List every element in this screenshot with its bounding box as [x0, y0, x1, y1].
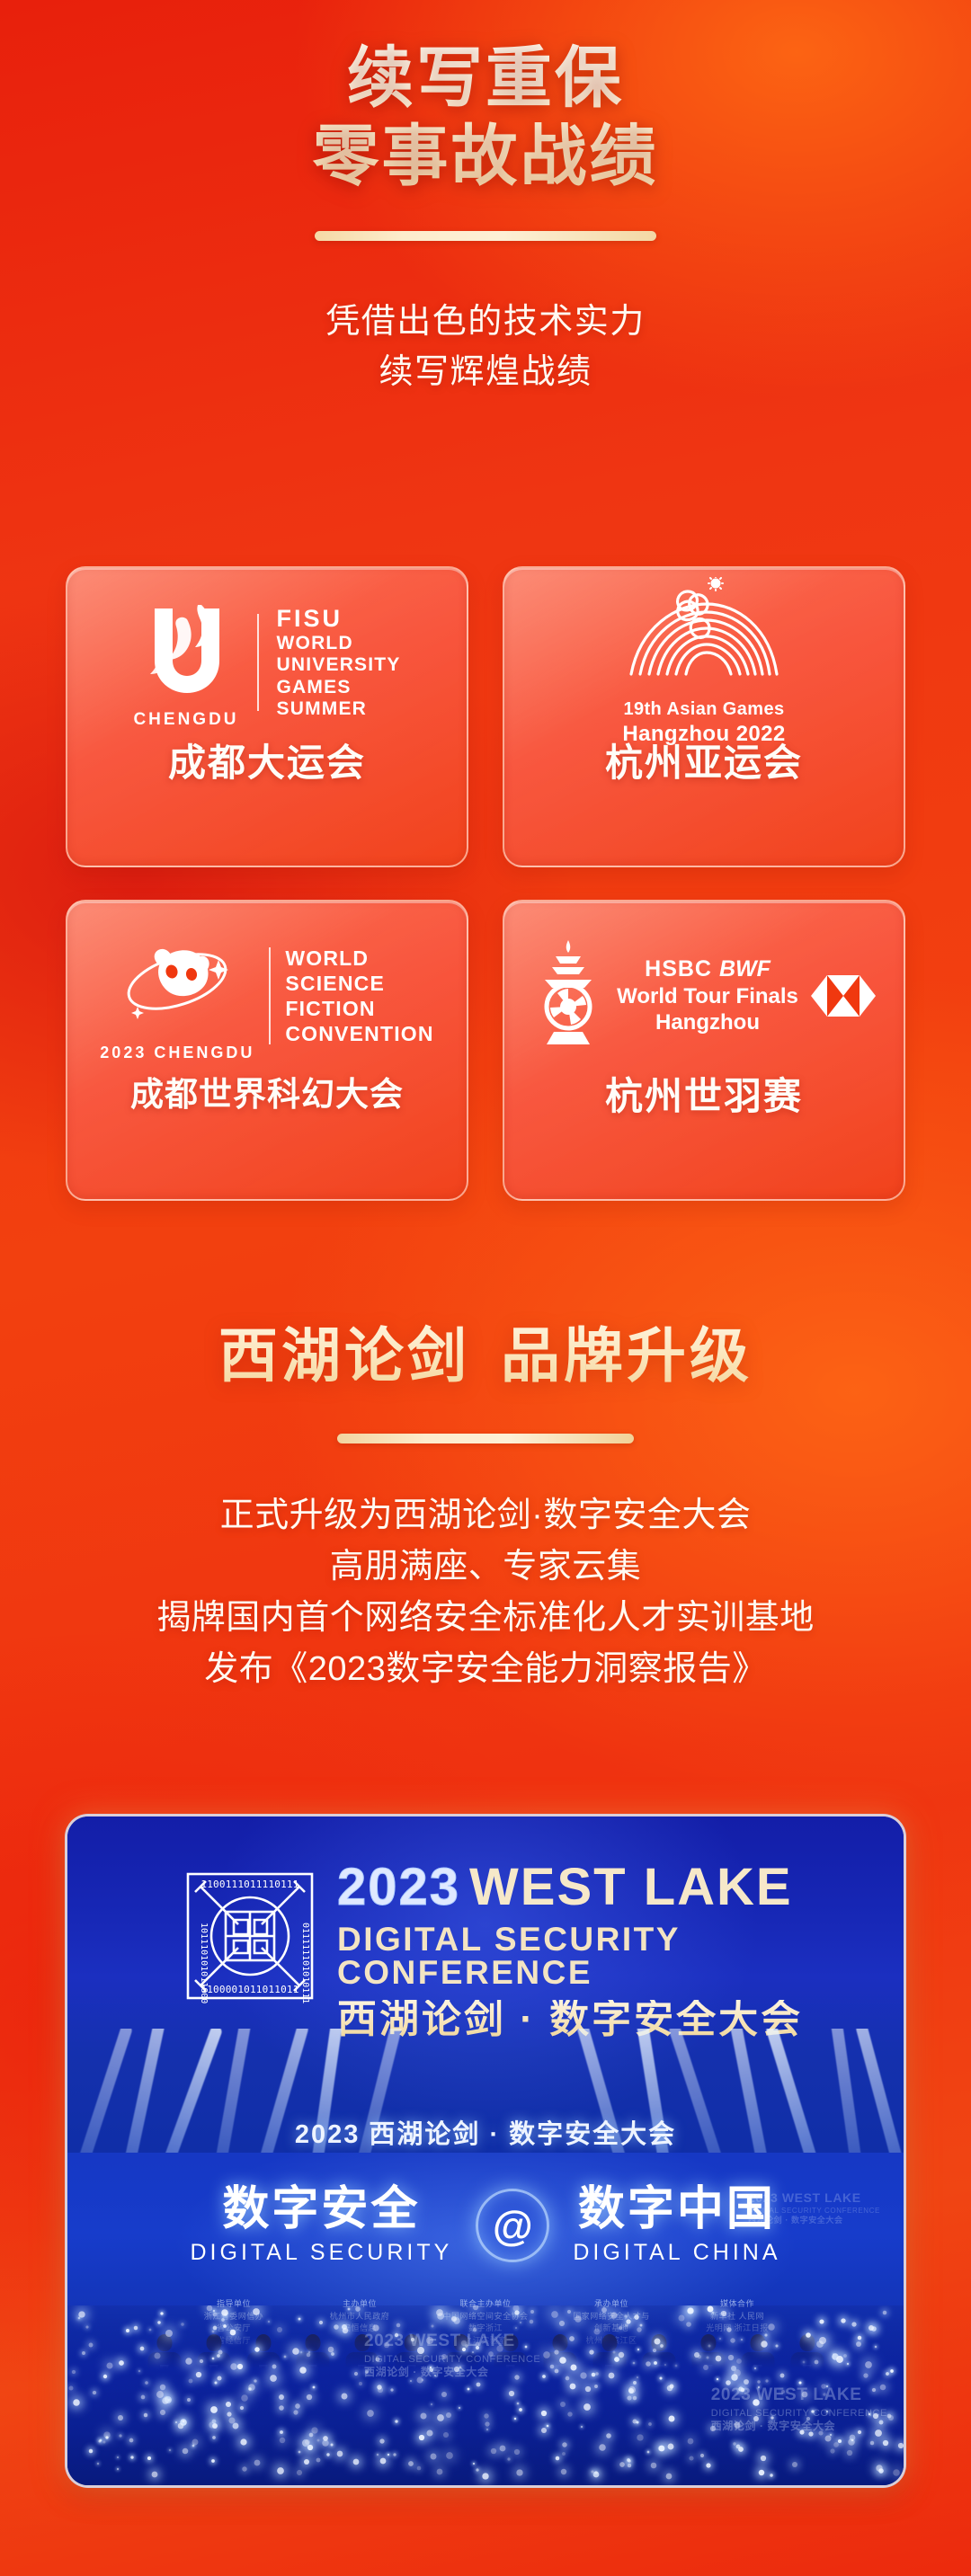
floor-sparkle	[891, 2369, 895, 2373]
universiade-flame-u-icon	[137, 596, 236, 702]
floor-sparkle	[628, 2459, 631, 2463]
fisu-line-university: UNIVERSITY	[277, 654, 401, 675]
hero-subtitle: 凭借出色的技术实力 续写辉煌战绩	[0, 297, 971, 397]
hero-divider	[315, 231, 656, 241]
floor-sparkle	[741, 2388, 744, 2392]
section2-body-line2: 高朋满座、专家云集	[0, 1541, 971, 1593]
floor-sparkle	[646, 2361, 651, 2367]
floor-sparkle	[284, 2355, 287, 2358]
floor-sparkle	[769, 2323, 776, 2331]
floor-sparkle	[627, 2396, 631, 2401]
floor-sparkle	[833, 2442, 839, 2447]
floor-sparkle	[620, 2462, 626, 2467]
floor-sparkle	[477, 2382, 481, 2386]
floor-sparkle	[551, 2311, 558, 2318]
floor-sparkle	[316, 2438, 319, 2441]
floor-sparkle	[141, 2394, 146, 2399]
floor-sparkle	[158, 2322, 161, 2324]
floor-sparkle	[873, 2413, 878, 2419]
floor-sparkle	[233, 2423, 239, 2429]
hsbc-text: HSBC	[645, 956, 712, 982]
floor-sparkle	[293, 2348, 300, 2355]
floor-sparkle	[207, 2305, 213, 2312]
floor-sparkle	[808, 2431, 813, 2436]
worldcon-line-fiction: FICTION	[285, 997, 375, 1020]
floor-sparkle	[830, 2448, 834, 2453]
stage-slogan: 数字安全 DIGITAL SECURITY @ 数字中国 DIGITAL CHI…	[67, 2185, 904, 2266]
floor-sparkle	[491, 2448, 496, 2454]
floor-sparkle	[156, 2391, 164, 2398]
floor-sparkle	[865, 2362, 872, 2369]
floor-sparkle	[279, 2406, 284, 2412]
floor-sparkle	[395, 2420, 397, 2422]
floor-sparkle	[792, 2462, 797, 2467]
bwf-line1: HSBC BWF	[617, 955, 798, 983]
floor-sparkle	[200, 2359, 203, 2363]
floor-sparkle	[277, 2327, 282, 2332]
floor-sparkle	[270, 2375, 277, 2382]
photo-title-year: 2023	[337, 1858, 460, 1916]
floor-sparkle	[690, 2456, 694, 2461]
asian-games-tide-fan-icon	[601, 577, 807, 688]
fisu-wordmark: FISU WORLD UNIVERSITY GAMES SUMMER	[277, 605, 401, 721]
event-card-chengdu-worldcon[interactable]: 2023 CHENGDU WORLD SCIENCE FICTION CONVE…	[66, 900, 468, 1201]
floor-sparkle	[798, 2381, 801, 2384]
sparkle-floor	[67, 2305, 904, 2485]
floor-sparkle	[226, 2402, 231, 2407]
floor-sparkle	[441, 2354, 447, 2359]
floor-sparkle	[719, 2338, 721, 2340]
floor-sparkle	[434, 2375, 436, 2376]
floor-sparkle	[144, 2413, 147, 2417]
fisu-text: FISU	[277, 605, 401, 633]
floor-sparkle	[666, 2474, 673, 2480]
floor-sparkle	[639, 2324, 642, 2327]
floor-sparkle	[98, 2439, 101, 2442]
event-card-grid: CHENGDU FISU WORLD UNIVERSITY GAMES SUMM…	[0, 566, 971, 1201]
floor-sparkle	[307, 2394, 312, 2399]
floor-sparkle	[633, 2362, 636, 2365]
floor-sparkle	[880, 2385, 886, 2391]
floor-sparkle	[89, 2343, 94, 2348]
floor-sparkle	[759, 2469, 764, 2474]
floor-sparkle	[512, 2305, 519, 2312]
floor-sparkle	[213, 2326, 218, 2331]
floor-sparkle	[255, 2348, 260, 2352]
floor-sparkle	[161, 2312, 164, 2314]
logo-divider	[257, 614, 259, 711]
floor-sparkle	[658, 2446, 664, 2452]
floor-sparkle	[107, 2363, 113, 2369]
floor-sparkle	[482, 2473, 488, 2479]
floor-sparkle	[893, 2469, 900, 2476]
floor-sparkle	[843, 2354, 847, 2358]
floor-sparkle	[85, 2325, 88, 2328]
floor-sparkle	[738, 2447, 744, 2453]
fisu-line-world: WORLD	[277, 633, 353, 653]
floor-sparkle	[298, 2450, 301, 2453]
floor-sparkle	[497, 2345, 503, 2351]
floor-sparkle	[210, 2407, 218, 2414]
floor-sparkle	[472, 2327, 477, 2332]
floor-sparkle	[228, 2418, 235, 2424]
floor-sparkle	[581, 2426, 583, 2428]
hsbc-bwf-world-tour-finals-logo: HSBC BWF World Tour Finals Hangzhou	[504, 902, 904, 1078]
floor-sparkle	[561, 2469, 566, 2474]
floor-sparkle	[378, 2387, 383, 2393]
worldcon-wordmark: WORLD SCIENCE FICTION CONVENTION	[285, 946, 433, 1046]
floor-sparkle	[710, 2426, 716, 2431]
floor-sparkle	[279, 2394, 284, 2400]
floor-sparkle	[762, 2341, 768, 2347]
floor-sparkle	[486, 2429, 488, 2430]
event-card-hangzhou-asian-games[interactable]: 19th Asian Games Hangzhou 2022 杭州亚运会	[503, 566, 905, 867]
hero-section: 续写重保 零事故战绩 凭借出色的技术实力 续写辉煌战绩	[0, 0, 971, 398]
floor-sparkle	[178, 2423, 184, 2429]
floor-sparkle	[242, 2466, 246, 2471]
floor-sparkle	[119, 2360, 124, 2366]
floor-sparkle	[431, 2403, 432, 2405]
at-symbol-icon: @	[476, 2189, 549, 2262]
floor-sparkle	[898, 2443, 904, 2448]
floor-sparkle	[222, 2309, 229, 2316]
floor-sparkle	[633, 2395, 637, 2399]
floor-sparkle	[625, 2314, 628, 2317]
floor-sparkle	[569, 2336, 575, 2341]
logo-caption-chengdu: CHENGDU	[133, 710, 238, 730]
svg-text:10111010101100011: 10111010101100011	[199, 1923, 209, 2003]
floor-sparkle	[562, 2452, 566, 2456]
floor-sparkle	[327, 2346, 334, 2352]
floor-sparkle	[230, 2364, 236, 2370]
section2-body-line1: 正式升级为西湖论剑·数字安全大会	[0, 1490, 971, 1541]
floor-sparkle	[447, 2453, 454, 2460]
floor-sparkle	[300, 2350, 303, 2353]
floor-sparkle	[838, 2439, 842, 2443]
hero-subtitle-line2: 续写辉煌战绩	[0, 347, 971, 397]
floor-sparkle	[554, 2349, 558, 2354]
floor-sparkle	[160, 2409, 165, 2414]
floor-sparkle	[437, 2415, 444, 2422]
floor-sparkle	[459, 2367, 462, 2369]
floor-sparkle	[858, 2335, 861, 2339]
floor-sparkle	[741, 2339, 743, 2341]
floor-sparkle	[117, 2467, 119, 2469]
floor-sparkle	[417, 2347, 424, 2354]
worldcon-line-science: SCIENCE	[285, 972, 385, 995]
worldcon-panda-logo: 2023 CHENGDU WORLD SCIENCE FICTION CONVE…	[67, 902, 467, 1078]
logo-caption-2023-chengdu: 2023 CHENGDU	[100, 1044, 254, 1062]
floor-sparkle	[633, 2381, 637, 2385]
floor-sparkle	[635, 2315, 640, 2321]
conference-photo-title: 2023WEST LAKE DIGITAL SECURITY CONFERENC…	[337, 1861, 904, 2039]
floor-sparkle	[149, 2328, 152, 2331]
floor-sparkle	[655, 2338, 661, 2344]
floor-sparkle	[167, 2399, 170, 2402]
floor-sparkle	[781, 2390, 785, 2394]
floor-sparkle	[562, 2442, 566, 2447]
floor-sparkle	[569, 2384, 575, 2390]
floor-sparkle	[753, 2416, 759, 2421]
floor-sparkle	[473, 2305, 478, 2310]
floor-sparkle	[331, 2444, 334, 2447]
floor-sparkle	[341, 2393, 347, 2399]
event-card-chengdu-universiade[interactable]: CHENGDU FISU WORLD UNIVERSITY GAMES SUMM…	[66, 566, 468, 867]
floor-sparkle	[758, 2386, 760, 2388]
floor-sparkle	[484, 2413, 488, 2418]
floor-sparkle	[213, 2313, 218, 2317]
floor-sparkle	[708, 2344, 710, 2347]
floor-sparkle	[836, 2356, 843, 2363]
floor-sparkle	[611, 2312, 618, 2318]
logo-divider	[269, 947, 271, 1044]
floor-sparkle	[336, 2451, 343, 2457]
floor-sparkle	[437, 2469, 443, 2475]
floor-sparkle	[717, 2378, 718, 2380]
floor-sparkle	[348, 2307, 351, 2310]
floor-sparkle	[318, 2321, 322, 2324]
floor-sparkle	[734, 2369, 741, 2376]
brand-upgrade-section: 西湖论剑品牌升级 正式升级为西湖论剑·数字安全大会 高朋满座、专家云集 揭牌国内…	[0, 1308, 971, 1695]
slogan-cn-left: 数字安全	[191, 2185, 453, 2234]
floor-sparkle	[473, 2463, 475, 2465]
floor-sparkle	[175, 2421, 177, 2423]
floor-sparkle	[79, 2312, 85, 2318]
floor-sparkle	[446, 2412, 451, 2418]
floor-sparkle	[825, 2436, 832, 2442]
floor-sparkle	[377, 2454, 379, 2456]
conference-photo-header: 1100111011110111 1100001011011011 101110…	[67, 1849, 904, 2029]
floor-sparkle	[280, 2438, 285, 2443]
panda-planet-icon	[114, 929, 240, 1035]
event-card-label: 成都大运会	[168, 744, 366, 782]
floor-sparkle	[134, 2326, 138, 2331]
floor-sparkle	[547, 2424, 549, 2427]
floor-sparkle	[312, 2385, 315, 2388]
floor-sparkle	[147, 2456, 151, 2460]
floor-sparkle	[609, 2372, 615, 2378]
floor-sparkle	[826, 2411, 828, 2412]
floor-sparkle	[308, 2350, 310, 2352]
slogan-cn-right: 数字中国	[573, 2185, 780, 2234]
floor-sparkle	[295, 2403, 300, 2409]
floor-sparkle	[410, 2380, 412, 2382]
floor-sparkle	[686, 2322, 691, 2327]
floor-sparkle	[869, 2413, 870, 2415]
floor-sparkle	[394, 2333, 397, 2337]
floor-sparkle	[145, 2381, 148, 2385]
photo-title-subtitle-en: DIGITAL SECURITY CONFERENCE	[337, 1923, 904, 1989]
liuhe-pagoda-icon	[532, 938, 604, 1053]
floor-sparkle	[126, 2329, 129, 2332]
floor-sparkle	[253, 2308, 260, 2315]
floor-sparkle	[384, 2342, 389, 2348]
xihu-lunjian-emblem: 1100111011110111 1100001011011011 101110…	[183, 1869, 317, 2003]
floor-sparkle	[343, 2328, 348, 2333]
floor-sparkle	[514, 2418, 516, 2420]
floor-sparkle	[426, 2429, 432, 2436]
floor-sparkle	[814, 2360, 818, 2365]
floor-sparkle	[223, 2324, 227, 2328]
floor-sparkle	[875, 2346, 877, 2348]
svg-text:01111110101011101: 01111110101011101	[300, 1923, 310, 2003]
floor-sparkle	[549, 2364, 554, 2368]
floor-sparkle	[567, 2412, 572, 2416]
section2-body-line3: 揭牌国内首个网络安全标准化人才实训基地	[0, 1593, 971, 1644]
floor-sparkle	[780, 2373, 785, 2377]
floor-sparkle	[556, 2456, 560, 2461]
floor-sparkle	[394, 2454, 396, 2456]
floor-sparkle	[212, 2436, 216, 2439]
floor-sparkle	[664, 2364, 666, 2366]
floor-sparkle	[316, 2458, 320, 2463]
worldcon-line-convention: CONVENTION	[285, 1022, 433, 1045]
floor-sparkle	[212, 2331, 215, 2333]
floor-sparkle	[736, 2358, 742, 2364]
floor-sparkle	[826, 2385, 828, 2387]
floor-sparkle	[566, 2376, 570, 2381]
floor-sparkle	[380, 2457, 387, 2464]
floor-sparkle	[430, 2367, 432, 2368]
bwf-line3: Hangzhou	[617, 1009, 798, 1035]
floor-sparkle	[230, 2330, 236, 2336]
floor-sparkle	[97, 2463, 99, 2465]
floor-sparkle	[806, 2333, 811, 2339]
floor-sparkle	[803, 2361, 806, 2364]
floor-sparkle	[299, 2367, 307, 2374]
floor-sparkle	[355, 2306, 361, 2312]
floor-sparkle	[388, 2454, 389, 2456]
floor-sparkle	[326, 2453, 329, 2456]
floor-sparkle	[476, 2469, 478, 2472]
floor-sparkle	[417, 2466, 422, 2471]
floor-sparkle	[468, 2388, 470, 2391]
floor-sparkle	[541, 2428, 547, 2433]
floor-sparkle	[559, 2358, 566, 2365]
floor-sparkle	[396, 2323, 400, 2327]
floor-sparkle	[765, 2380, 768, 2383]
floor-sparkle	[420, 2413, 426, 2420]
floor-sparkle	[628, 2464, 631, 2467]
floor-sparkle	[211, 2459, 215, 2463]
floor-sparkle	[181, 2323, 183, 2326]
section2-title-part2: 品牌升级	[501, 1322, 753, 1389]
floor-sparkle	[82, 2351, 85, 2355]
floor-sparkle	[580, 2373, 586, 2379]
floor-sparkle	[237, 2363, 243, 2368]
floor-sparkle	[509, 2391, 514, 2396]
floor-sparkle	[488, 2351, 494, 2357]
floor-sparkle	[649, 2422, 653, 2426]
floor-sparkle	[515, 2375, 520, 2379]
page-title-line1: 续写重保	[347, 40, 624, 115]
event-card-hangzhou-bwf[interactable]: HSBC BWF World Tour Finals Hangzhou 杭州世羽…	[503, 900, 905, 1201]
floor-sparkle	[419, 2435, 424, 2440]
section2-body: 正式升级为西湖论剑·数字安全大会 高朋满座、专家云集 揭牌国内首个网络安全标准化…	[0, 1490, 971, 1695]
floor-sparkle	[706, 2464, 710, 2468]
stage-slogan-right: 数字中国 DIGITAL CHINA	[573, 2185, 780, 2266]
floor-sparkle	[841, 2318, 845, 2323]
floor-sparkle	[554, 2368, 558, 2373]
floor-sparkle	[543, 2351, 550, 2358]
floor-sparkle	[650, 2463, 656, 2469]
asian-games-caption: 19th Asian Games Hangzhou 2022	[601, 698, 807, 748]
floor-sparkle	[353, 2459, 360, 2465]
floor-sparkle	[304, 2459, 309, 2465]
floor-sparkle	[409, 2461, 414, 2466]
floor-sparkle	[354, 2372, 358, 2376]
floor-sparkle	[670, 2385, 674, 2389]
floor-sparkle	[811, 2411, 814, 2413]
worldcon-line-world: WORLD	[285, 946, 369, 970]
floor-sparkle	[520, 2321, 521, 2323]
event-card-label: 杭州亚运会	[605, 744, 803, 782]
section2-title-part1: 西湖论剑	[218, 1322, 470, 1389]
floor-sparkle	[806, 2417, 809, 2421]
floor-sparkle	[856, 2341, 861, 2347]
floor-sparkle	[254, 2459, 260, 2465]
floor-sparkle	[883, 2311, 886, 2314]
floor-sparkle	[459, 2407, 460, 2409]
floor-sparkle	[594, 2385, 598, 2388]
floor-sparkle	[626, 2323, 629, 2327]
section2-divider	[337, 1434, 634, 1443]
floor-sparkle	[376, 2357, 380, 2361]
floor-sparkle	[476, 2347, 479, 2350]
floor-sparkle	[212, 2423, 218, 2429]
floor-sparkle	[218, 2376, 222, 2381]
conference-photo[interactable]: 1100111011110111 1100001011011011 101110…	[65, 1814, 906, 2488]
floor-sparkle	[584, 2386, 590, 2392]
floor-sparkle	[72, 2369, 76, 2373]
floor-sparkle	[185, 2358, 192, 2365]
floor-sparkle	[298, 2318, 300, 2321]
section2-title: 西湖论剑品牌升级	[0, 1308, 971, 1394]
floor-sparkle	[707, 2357, 709, 2359]
floor-sparkle	[679, 2314, 685, 2321]
floor-sparkle	[307, 2353, 311, 2358]
floor-sparkle	[217, 2354, 220, 2358]
floor-sparkle	[575, 2315, 582, 2323]
floor-sparkle	[187, 2398, 191, 2402]
floor-sparkle	[667, 2444, 673, 2450]
floor-sparkle	[595, 2372, 599, 2376]
floor-sparkle	[390, 2388, 393, 2391]
floor-sparkle	[268, 2321, 270, 2323]
stage-banner-text: 2023 西湖论剑 · 数字安全大会	[67, 2113, 904, 2151]
floor-sparkle	[272, 2364, 276, 2368]
floor-sparkle	[372, 2324, 379, 2331]
floor-sparkle	[430, 2369, 433, 2373]
bwf-text: BWF	[719, 956, 771, 982]
floor-sparkle	[89, 2449, 93, 2453]
floor-sparkle	[432, 2325, 434, 2328]
floor-sparkle	[654, 2361, 657, 2365]
slogan-en-left: DIGITAL SECURITY	[191, 2240, 453, 2266]
floor-sparkle	[800, 2429, 805, 2434]
floor-sparkle	[410, 2338, 414, 2341]
floor-sparkle	[212, 2358, 215, 2360]
floor-sparkle	[159, 2385, 165, 2390]
floor-sparkle	[559, 2320, 565, 2325]
floor-sparkle	[188, 2379, 192, 2384]
floor-sparkle	[293, 2411, 298, 2415]
floor-sparkle	[864, 2373, 869, 2377]
floor-sparkle	[757, 2380, 760, 2383]
floor-sparkle	[618, 2351, 623, 2357]
floor-sparkle	[422, 2379, 423, 2381]
page-title: 续写重保 零事故战绩	[0, 0, 971, 195]
